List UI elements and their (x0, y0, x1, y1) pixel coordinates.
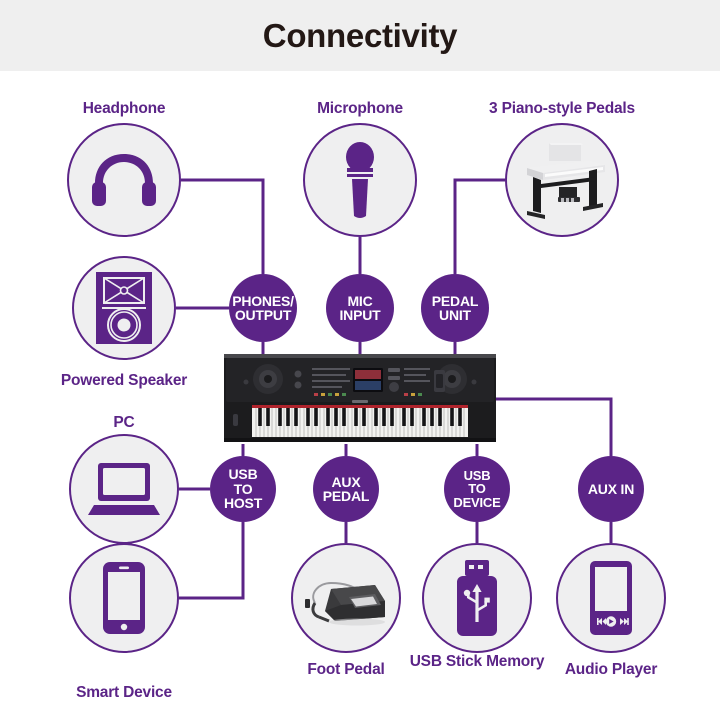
laptop-icon (88, 461, 160, 517)
port-label: MICINPUT (339, 294, 380, 323)
port-pedal-unit[interactable]: PEDALUNIT (421, 274, 489, 342)
label-pc: PC (14, 414, 234, 432)
device-smart-device[interactable] (69, 543, 179, 653)
port-mic-input[interactable]: MICINPUT (326, 274, 394, 342)
device-pc[interactable] (69, 434, 179, 544)
port-label: USBTOHOST (224, 467, 262, 510)
port-usb-to-device[interactable]: USBTODEVICE (444, 456, 510, 522)
port-aux-in[interactable]: AUX IN (578, 456, 644, 522)
port-label: PEDALUNIT (432, 294, 478, 323)
headphone-icon (89, 150, 159, 210)
port-label: USBTODEVICE (453, 469, 500, 509)
device-piano-pedals[interactable] (505, 123, 619, 237)
device-usb-stick[interactable] (422, 543, 532, 653)
connector-piano-pedals-to-pedal-unit (455, 180, 505, 274)
label-piano-pedals: 3 Piano-style Pedals (452, 100, 672, 118)
connectivity-diagram: Connectivity (0, 0, 720, 720)
smartphone-icon (103, 562, 145, 634)
connector-smart-device-to-usb-to-host (179, 522, 243, 598)
usb-stick-icon (454, 560, 500, 636)
speaker-icon (96, 272, 152, 344)
port-label: AUX IN (588, 482, 634, 496)
device-powered-speaker[interactable] (72, 256, 176, 360)
port-phones-output[interactable]: PHONES/OUTPUT (229, 274, 297, 342)
device-audio-player[interactable] (556, 543, 666, 653)
connector-headphone-to-phones-output (181, 180, 263, 274)
label-powered-speaker: Powered Speaker (14, 372, 234, 390)
piano-stand-photo (515, 139, 609, 221)
device-headphone[interactable] (67, 123, 181, 237)
foot-pedal-photo (301, 567, 391, 629)
label-microphone: Microphone (250, 100, 470, 118)
port-usb-to-host[interactable]: USBTOHOST (210, 456, 276, 522)
microphone-icon (338, 140, 382, 220)
digital-piano (224, 352, 496, 444)
port-label: PHONES/OUTPUT (232, 294, 294, 323)
device-microphone[interactable] (303, 123, 417, 237)
label-audio-player: Audio Player (501, 661, 720, 679)
port-label: AUXPEDAL (323, 475, 369, 504)
audio-player-icon (590, 561, 632, 635)
device-foot-pedal[interactable] (291, 543, 401, 653)
label-smart-device: Smart Device (14, 684, 234, 702)
connector-digital-piano-to-aux-in (496, 399, 611, 456)
port-aux-pedal[interactable]: AUXPEDAL (313, 456, 379, 522)
label-headphone: Headphone (14, 100, 234, 118)
